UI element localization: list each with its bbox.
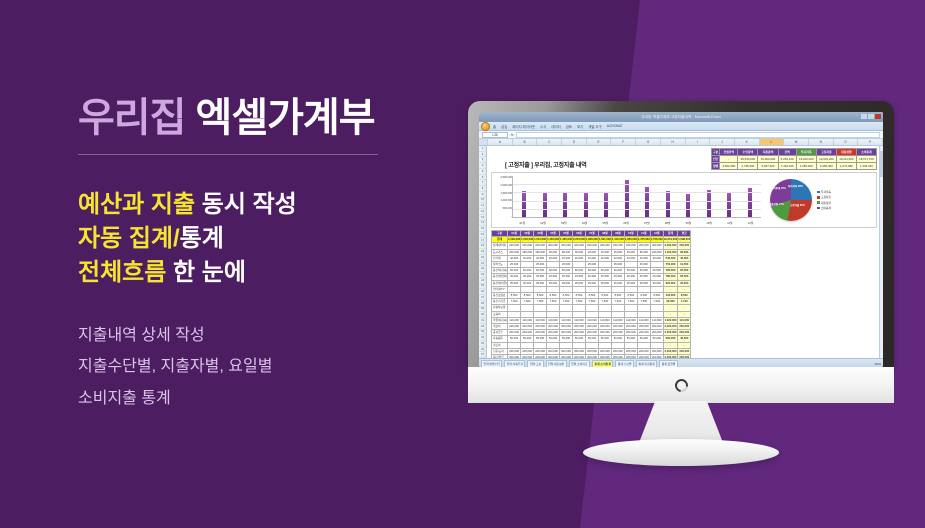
- subtitle-line-3: 전체흐름 한 눈에: [78, 256, 478, 290]
- table-cell[interactable]: 1,160,000: [663, 249, 677, 255]
- monitor-screen: 우리집 엑셀가계부 고정지출내역 - Microsoft Excel 홈 삽입 …: [479, 112, 883, 367]
- bar-01월: [522, 191, 526, 217]
- sheet-tab[interactable]: 입력:소비지출: [569, 360, 590, 367]
- table-cell[interactable]: 1,416,000: [611, 237, 624, 243]
- table-cell[interactable]: 1,465,000: [560, 237, 573, 243]
- table-cell[interactable]: 200,000: [650, 243, 663, 249]
- table-cell[interactable]: 200,000: [547, 348, 560, 354]
- scrollbar-thumb[interactable]: [880, 151, 883, 177]
- formula-input[interactable]: [516, 132, 880, 138]
- name-box[interactable]: L36: [482, 132, 508, 138]
- table-cell[interactable]: 200,000: [508, 249, 521, 255]
- ribbon-tab-view[interactable]: 보기: [577, 124, 583, 129]
- excel-application: 우리집 엑셀가계부 고정지출내역 - Microsoft Excel 홈 삽입 …: [479, 112, 883, 367]
- summary-header-4: 잔액: [778, 149, 796, 156]
- table-cell[interactable]: 200,000: [521, 330, 534, 336]
- worksheet-area[interactable]: 1234567891011121314151617181920212223242…: [479, 146, 879, 358]
- x-tick-label: 02월: [538, 221, 548, 225]
- bar-series: [513, 176, 761, 217]
- table-cell[interactable]: 2,400,000: [663, 348, 677, 354]
- ribbon-tab-insert[interactable]: 삽입: [501, 124, 507, 129]
- table-cell[interactable]: 200,000: [521, 348, 534, 354]
- table-cell[interactable]: 180,000: [534, 249, 547, 255]
- table-cell[interactable]: 200,000: [624, 348, 637, 354]
- summary-month-v3: 7,333,340: [778, 163, 796, 170]
- summary-month-v0: 4,652,480: [720, 163, 738, 170]
- table-cell[interactable]: 2,400,000: [663, 243, 677, 249]
- subtitle-line-2: 자동 집계/통계: [78, 222, 478, 256]
- summary-year-v1: 69,530,000: [738, 156, 758, 163]
- summary-header-row: 구분 전월잔액 수입총액 지출총액 잔액 투자저축 고정지출 대출상환 소비총계: [712, 149, 877, 156]
- table-cell[interactable]: 1,599,000: [508, 237, 521, 243]
- column-k[interactable]: K: [735, 139, 760, 145]
- subtitle-line-1: 예산과 지출 동시 작성: [78, 188, 478, 222]
- summary-header-6: 고정지출: [816, 149, 836, 156]
- x-tick-label: 03월: [559, 221, 569, 225]
- table-row-label: 월세/관리비: [492, 243, 508, 249]
- x-tick-label: 06월: [621, 221, 631, 225]
- table-cell[interactable]: 110,000: [678, 317, 691, 323]
- sheet-tab[interactable]: 입력:저축투자: [504, 360, 525, 367]
- table-cell[interactable]: 200,000: [521, 243, 534, 249]
- feature-note-list: 지출내역 상세 작성 지출수단별, 지출자별, 요일별 소비지출 통계: [78, 320, 478, 414]
- feature-note-1: 지출내역 상세 작성: [78, 320, 478, 351]
- legend-swatch-icon: [817, 201, 820, 204]
- summary-header-2: 수입총액: [738, 149, 758, 156]
- table-cell[interactable]: 200,000: [678, 330, 691, 336]
- excel-window-title: 우리집 엑셀가계부 고정지출내역 - Microsoft Excel: [641, 115, 720, 120]
- column-l-selected[interactable]: L: [760, 139, 785, 145]
- expense-data-table[interactable]: 구분01월02월03월04월05월06월07월08월09월10월11월12월합계…: [491, 230, 691, 358]
- pie-legend-item: 투자저축: [817, 190, 831, 194]
- column-g[interactable]: G: [636, 139, 661, 145]
- table-row[interactable]: 학원비(자녀)110,000110,000110,000110,000110,0…: [492, 317, 691, 323]
- column-d[interactable]: D: [562, 139, 587, 145]
- table-cell[interactable]: 200,000: [560, 330, 573, 336]
- summary-year-v7: 18,671,700: [856, 156, 876, 163]
- summary-row-year-label: 연간: [712, 156, 720, 163]
- legend-swatch-icon: [817, 196, 820, 199]
- table-cell[interactable]: 110,000: [624, 317, 637, 323]
- table-cell[interactable]: 200,000: [624, 330, 637, 336]
- window-controls[interactable]: [861, 114, 881, 119]
- table-row[interactable]: 도시가스200,000180,000180,00090,00080,00030,…: [492, 249, 691, 255]
- bar-04월: [584, 193, 588, 217]
- column-header-row[interactable]: A B C D E F G H I J K L M N O: [479, 139, 883, 146]
- table-cell[interactable]: 200,000: [573, 330, 586, 336]
- table-cell[interactable]: 200,000: [560, 348, 573, 354]
- grid-line: [513, 201, 761, 202]
- table-cell[interactable]: 200,000: [508, 348, 521, 354]
- bar-chart-xaxis: 01월02월03월04월05월06월07월08월09월10월11월12월: [512, 219, 761, 226]
- excel-formula-bar: L36 fx: [479, 131, 883, 139]
- sheet-tab[interactable]: 입력:월별수입: [481, 360, 502, 367]
- summary-month-v6: 1,074,980: [836, 163, 856, 170]
- summary-row-month: 월별 4,652,480 4,748,300 5,067,320 7,333,3…: [712, 163, 877, 170]
- ribbon-tab-formulas[interactable]: 수식: [540, 124, 546, 129]
- table-cell[interactable]: 200,000: [547, 330, 560, 336]
- table-cell[interactable]: 200,000: [508, 330, 521, 336]
- table-cell[interactable]: 200,000: [678, 324, 691, 330]
- sheet-tab[interactable]: 입력:고정: [527, 360, 543, 367]
- column-n[interactable]: N: [809, 139, 834, 145]
- table-cell[interactable]: 110,000: [560, 317, 573, 323]
- table-cell[interactable]: 110,000: [534, 317, 547, 323]
- table-cell[interactable]: 200,000: [678, 243, 691, 249]
- vertical-scrollbar[interactable]: [879, 146, 883, 358]
- table-cell[interactable]: 200,000: [534, 348, 547, 354]
- pie-chart: 투자저축 28% 고정지출 30% 대출상환 17% 소비총계 25% 투자저축…: [764, 173, 876, 227]
- sheet-tab[interactable]: 통계:지출통계: [636, 360, 657, 367]
- summary-month-v2: 5,067,320: [758, 163, 778, 170]
- table-cell[interactable]: 110,000: [573, 317, 586, 323]
- table-cell[interactable]: 110,000: [585, 317, 598, 323]
- summary-month-v7: 1,336,340: [856, 163, 876, 170]
- table-row[interactable]: 의료비200,000200,000200,000200,000200,00020…: [492, 324, 691, 330]
- y-tick-label: 2,500,000: [494, 176, 512, 179]
- table-cell[interactable]: 200,000: [508, 324, 521, 330]
- table-cell[interactable]: 200,000: [598, 324, 611, 330]
- ribbon-tab-acrobat[interactable]: ACROBAT: [607, 124, 623, 128]
- sheet-tab-bar[interactable]: 입력:월별수입입력:저축투자입력:고정입력:대출상환입력:소비지출통계:소비통계…: [479, 358, 883, 367]
- summary-year-v2: 63,909,000: [758, 156, 778, 163]
- bar-06월: [625, 180, 629, 217]
- table-cell[interactable]: 1,456,000: [547, 237, 560, 243]
- desktop-monitor: 우리집 엑셀가계부 고정지출내역 - Microsoft Excel 홈 삽입 …: [468, 101, 894, 465]
- subtitle-2-highlight: 자동 집계/: [78, 225, 180, 252]
- feature-note-2: 지출수단별, 지출자별, 요일별: [78, 351, 478, 382]
- table-cell[interactable]: 200,000: [611, 348, 624, 354]
- slide-canvas: 우리집 엑셀가계부 예산과 지출 동시 작성 자동 집계/통계 전체흐름 한 눈…: [0, 0, 925, 528]
- bar-chart: 2,500,0002,000,0001,500,0001,000,000500,…: [492, 173, 764, 227]
- office-orb-icon[interactable]: [481, 122, 490, 131]
- summary-header-1: 전월잔액: [720, 149, 738, 156]
- monitor-logo-icon: [672, 376, 690, 394]
- y-tick-label: -: [494, 215, 512, 218]
- table-row[interactable]: 신문/도서200,000200,000200,000200,000200,000…: [492, 348, 691, 354]
- table-cell[interactable]: 200,000: [637, 324, 650, 330]
- table-cell[interactable]: 1,598,250: [678, 237, 691, 243]
- table-cell[interactable]: 2,500,000: [663, 330, 677, 336]
- title-divider: [78, 154, 378, 155]
- pie-legend-item: 소비총계: [817, 206, 831, 210]
- table-cell[interactable]: 200,000: [534, 324, 547, 330]
- grid-line: [513, 192, 761, 193]
- table-row[interactable]: 공과금주200,000200,000200,000200,000200,0002…: [492, 330, 691, 336]
- table-cell[interactable]: 110,000: [650, 317, 663, 323]
- ribbon-tab-home[interactable]: 홈: [493, 124, 496, 129]
- column-h[interactable]: H: [661, 139, 686, 145]
- sheet-tab[interactable]: 입력:대출상환: [546, 360, 567, 367]
- pie-label-1: 고정지출 30%: [790, 205, 805, 208]
- sheet-tab[interactable]: 통계:요일별: [659, 360, 678, 367]
- title-part-2: 엑셀가계부: [196, 96, 375, 140]
- row-header-column[interactable]: 1234567891011121314151617181920212223242…: [479, 146, 487, 358]
- summary-year-v4: 19,200,000: [796, 156, 816, 163]
- maximize-icon[interactable]: [868, 114, 874, 119]
- column-o[interactable]: O: [834, 139, 859, 145]
- bar-10월: [707, 190, 711, 217]
- excel-ribbon-tabs[interactable]: 홈 삽입 페이지 레이아웃 수식 데이터 검토 보기 개발 도구 ACROBAT: [479, 122, 883, 131]
- table-cell[interactable]: 110,000: [547, 317, 560, 323]
- table-row-label: 통신비(엄마): [492, 274, 508, 280]
- table-cell[interactable]: 190,000: [650, 249, 663, 255]
- legend-swatch-icon: [817, 191, 820, 194]
- table-cell[interactable]: 200,000: [598, 348, 611, 354]
- table-cell[interactable]: 200,000: [521, 324, 534, 330]
- table-cell[interactable]: 200,000: [650, 324, 663, 330]
- table-cell[interactable]: 110,000: [637, 317, 650, 323]
- x-tick-label: 08월: [663, 221, 673, 225]
- monitor-chin: [468, 367, 894, 403]
- summary-header-0: 구분: [712, 149, 720, 156]
- table-cell[interactable]: 200,000: [560, 243, 573, 249]
- summary-year-v5: 19,003,200: [816, 156, 836, 163]
- table-cell[interactable]: 200,000: [534, 243, 547, 249]
- table-cell[interactable]: 1,320,000: [663, 317, 677, 323]
- title-part-1: 우리집: [78, 96, 185, 140]
- ribbon-tab-data[interactable]: 데이터: [551, 124, 560, 129]
- sheet-tab[interactable]: 통계:소비통계: [592, 360, 613, 367]
- x-tick-label: 04월: [580, 221, 590, 225]
- summary-year-v0: -: [720, 156, 738, 163]
- table-cell[interactable]: 1,475,000: [637, 237, 650, 243]
- subtitle-1-rest: 동시 작성: [195, 191, 297, 218]
- legend-label: 투자저축: [821, 190, 831, 194]
- column-j[interactable]: J: [710, 139, 735, 145]
- table-cell[interactable]: 200,000: [611, 324, 624, 330]
- column-m[interactable]: M: [784, 139, 809, 145]
- function-icon[interactable]: fx: [511, 133, 513, 137]
- y-tick-label: 500,000: [494, 207, 512, 210]
- table-cell[interactable]: 200,000: [573, 348, 586, 354]
- table-cell[interactable]: 200,000: [573, 324, 586, 330]
- summary-row-year: 연간 - 69,530,000 63,909,000 5,263,120 19,…: [712, 156, 877, 163]
- feature-note-3: 소비지출 통계: [78, 383, 478, 414]
- close-icon[interactable]: [875, 114, 881, 119]
- table-cell[interactable]: 19,051,000: [663, 237, 677, 243]
- table-cell[interactable]: 200,000: [598, 243, 611, 249]
- column-p[interactable]: P: [858, 139, 883, 145]
- subtitle-1-highlight: 예산과 지출: [78, 191, 195, 218]
- table-cell[interactable]: 200,000: [624, 243, 637, 249]
- table-cell[interactable]: 200,000: [637, 243, 650, 249]
- table-row-label: 통신비(자녀): [492, 268, 508, 274]
- table-cell[interactable]: 180,000: [521, 249, 534, 255]
- summary-header-8: 소비총계: [856, 149, 876, 156]
- table-cell[interactable]: 1,656,000: [624, 237, 637, 243]
- legend-label: 소비총계: [821, 206, 831, 210]
- page-title: 우리집 엑셀가계부: [78, 96, 478, 140]
- pie-legend-item: 고정지출: [817, 195, 831, 199]
- table-cell[interactable]: 110,000: [598, 317, 611, 323]
- bar-08월: [666, 191, 670, 217]
- select-all-corner[interactable]: [479, 139, 488, 145]
- excel-title-bar: 우리집 엑셀가계부 고정지출내역 - Microsoft Excel: [479, 112, 883, 122]
- table-row[interactable]: 합계1,599,0001,546,0001,531,0001,456,0001,…: [492, 237, 691, 243]
- zoom-level[interactable]: 100%: [874, 363, 881, 366]
- table-cell[interactable]: 200,000: [611, 243, 624, 249]
- monitor-bezel: 우리집 엑셀가계부 고정지출내역 - Microsoft Excel 홈 삽입 …: [468, 101, 894, 367]
- table-cell[interactable]: 200,000: [650, 348, 663, 354]
- pie-label-0: 투자저축 28%: [788, 186, 803, 189]
- column-b[interactable]: B: [513, 139, 538, 145]
- table-row[interactable]: 월세/관리비200,000200,000200,000200,000200,00…: [492, 243, 691, 249]
- x-tick-label: 11월: [725, 221, 735, 225]
- summary-month-v4: 1,280,000: [796, 163, 816, 170]
- table-cell[interactable]: 110,000: [611, 317, 624, 323]
- hero-text-column: 우리집 엑셀가계부 예산과 지출 동시 작성 자동 집계/통계 전체흐름 한 눈…: [78, 96, 478, 414]
- table-cell[interactable]: 200,000: [637, 330, 650, 336]
- table-row-label: 통신기기금: [492, 299, 508, 305]
- x-tick-label: 12월: [746, 221, 756, 225]
- ribbon-tab-developer[interactable]: 개발 도구: [588, 124, 601, 129]
- table-row-label: 통신비(아들): [492, 280, 508, 286]
- table-cell[interactable]: 110,000: [521, 317, 534, 323]
- monitor-stand-base: [583, 439, 779, 466]
- table-row-label: 통신보험료: [492, 293, 508, 299]
- bar-chart-plot: [512, 176, 761, 218]
- summary-year-v6: 19,211,500: [836, 156, 856, 163]
- table-cell[interactable]: 200,000: [547, 243, 560, 249]
- table-cell[interactable]: 200,000: [585, 330, 598, 336]
- ribbon-tab-pagelayout[interactable]: 페이지 레이아웃: [512, 124, 535, 129]
- grid-line: [513, 184, 761, 185]
- table-cell[interactable]: 2,254,000: [573, 237, 586, 243]
- summary-month-v5: 2,256,300: [816, 163, 836, 170]
- summary-table: 구분 전월잔액 수입총액 지출총액 잔액 투자저축 고정지출 대출상환 소비총계: [711, 148, 877, 170]
- table-cell[interactable]: 1,546,000: [521, 237, 534, 243]
- subtitle-3-rest: 한 눈에: [166, 259, 246, 286]
- pie-label-2: 대출상환 17%: [769, 204, 784, 207]
- subtitle-block: 예산과 지출 동시 작성 자동 집계/통계 전체흐름 한 눈에: [78, 188, 478, 290]
- table-cell[interactable]: 200,000: [598, 330, 611, 336]
- sheet-content: [ 고정지출 ] 우리집, 고정지출 내역 구분 전월잔액 수입총액 지출총액 …: [487, 146, 879, 358]
- sheet-tab[interactable]: 통계:수단별: [615, 360, 634, 367]
- x-tick-label: 07월: [642, 221, 652, 225]
- grid-line: [513, 209, 761, 210]
- x-tick-label: 09월: [683, 221, 693, 225]
- table-cell[interactable]: 200,000: [573, 243, 586, 249]
- bar-05월: [604, 193, 608, 217]
- pie-legend-item: 대출상환: [817, 201, 831, 205]
- table-cell[interactable]: 200,000: [585, 243, 598, 249]
- minimize-icon[interactable]: [861, 114, 867, 119]
- x-tick-label: 05월: [600, 221, 610, 225]
- table-cell[interactable]: 200,000: [547, 324, 560, 330]
- summary-month-v1: 4,748,300: [738, 163, 758, 170]
- summary-header-7: 대출상환: [836, 149, 856, 156]
- pie-chart-legend: 투자저축고정지출대출상환소비총계: [817, 190, 831, 210]
- table-cell[interactable]: 2,400,000: [663, 324, 677, 330]
- y-tick-label: 1,500,000: [494, 192, 512, 195]
- pie-chart-graphic: 투자저축 28% 고정지출 30% 대출상환 17% 소비총계 25%: [770, 179, 812, 221]
- table-row-label: 학원비(자녀): [492, 317, 508, 323]
- column-a[interactable]: A: [488, 139, 513, 145]
- table-cell[interactable]: 200,000: [624, 324, 637, 330]
- summary-year-v3: 5,263,120: [778, 156, 796, 163]
- column-e[interactable]: E: [587, 139, 612, 145]
- table-cell[interactable]: 1,531,000: [534, 237, 547, 243]
- table-cell[interactable]: 200,000: [560, 324, 573, 330]
- y-tick-label: 2,000,000: [494, 184, 512, 187]
- table-row-label: 자동차보험: [492, 305, 508, 311]
- bar-03월: [563, 192, 567, 217]
- bar-02월: [543, 192, 547, 217]
- summary-row-month-label: 월별: [712, 163, 720, 170]
- table-cell[interactable]: 1,806,000: [585, 237, 598, 243]
- table-cell[interactable]: 200,000: [678, 348, 691, 354]
- column-i[interactable]: I: [686, 139, 711, 145]
- sheet-heading: [ 고정지출 ] 우리집, 고정지출 내역: [505, 160, 587, 169]
- column-c[interactable]: C: [537, 139, 562, 145]
- table-cell[interactable]: 110,000: [508, 317, 521, 323]
- pie-label-3: 소비총계 25%: [771, 188, 786, 191]
- bar-chart-yaxis: 2,500,0002,000,0001,500,0001,000,000500,…: [494, 176, 512, 218]
- table-cell[interactable]: 200,000: [585, 348, 598, 354]
- table-cell[interactable]: 1,591,000: [598, 237, 611, 243]
- summary-header-5: 투자저축: [796, 149, 816, 156]
- table-cell[interactable]: 200,000: [637, 348, 650, 354]
- legend-label: 대출상환: [821, 201, 831, 205]
- bar-09월: [686, 194, 690, 217]
- chart-panel: 2,500,0002,000,0001,500,0001,000,000500,…: [491, 172, 877, 228]
- bar-11월: [727, 193, 731, 217]
- table-cell[interactable]: 1,756,000: [650, 237, 663, 243]
- ribbon-tab-review[interactable]: 검토: [566, 124, 572, 129]
- y-tick-label: 1,000,000: [494, 199, 512, 202]
- table-cell[interactable]: 200,000: [534, 330, 547, 336]
- table-cell[interactable]: 200,000: [585, 324, 598, 330]
- summary-header-3: 지출총액: [758, 149, 778, 156]
- subtitle-3-highlight: 전체흐름: [78, 259, 166, 286]
- x-tick-label: 01월: [517, 221, 527, 225]
- x-tick-label: 10월: [704, 221, 714, 225]
- legend-label: 고정지출: [821, 195, 831, 199]
- table-cell[interactable]: 200,000: [611, 330, 624, 336]
- column-f[interactable]: F: [611, 139, 636, 145]
- legend-swatch-icon: [817, 207, 820, 210]
- subtitle-2-rest: 통계: [180, 225, 224, 252]
- table-cell[interactable]: 200,000: [508, 243, 521, 249]
- table-cell[interactable]: 200,000: [650, 330, 663, 336]
